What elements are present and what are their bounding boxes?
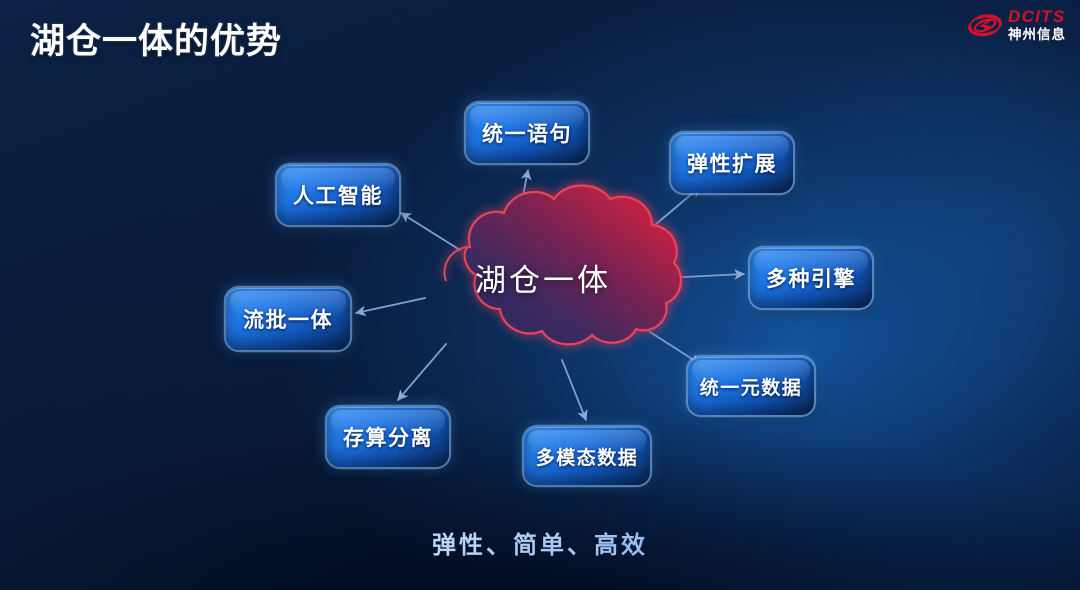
node-label: 统一元数据 (700, 373, 803, 400)
node-storage-compute[interactable]: 存算分离 (327, 407, 449, 467)
node-unified-syntax[interactable]: 统一语句 (466, 103, 588, 163)
node-multimodal-data[interactable]: 多模态数据 (524, 427, 650, 485)
node-label: 弹性扩展 (687, 148, 777, 178)
logo-english-text: DCITS (1008, 8, 1066, 25)
slide-canvas: 湖仓一体的优势 DCITS 神州信息 (0, 0, 1080, 590)
node-label: 存算分离 (343, 422, 433, 452)
logo-chinese-text: 神州信息 (1008, 28, 1066, 42)
brand-logo: DCITS 神州信息 (967, 8, 1066, 42)
mindmap-diagram: 湖仓一体 统一语句弹性扩展人工智能多种引擎流批一体统一元数据存算分离多模态数据 (0, 0, 1080, 590)
cloud-center-label: 湖仓一体 (475, 255, 611, 300)
node-label: 人工智能 (293, 180, 383, 210)
node-stream-batch[interactable]: 流批一体 (226, 288, 350, 350)
node-unified-metadata[interactable]: 统一元数据 (688, 357, 814, 415)
slide-footer-tagline: 弹性、简单、高效 (0, 525, 1080, 560)
node-label: 多种引擎 (766, 263, 856, 293)
node-label: 多模态数据 (536, 443, 639, 470)
node-multi-engine[interactable]: 多种引擎 (750, 248, 872, 308)
node-elastic-scaling[interactable]: 弹性扩展 (671, 133, 793, 193)
swirl-icon (967, 8, 1003, 42)
node-artificial-intel[interactable]: 人工智能 (277, 165, 399, 225)
page-title: 湖仓一体的优势 (30, 13, 282, 64)
node-label: 流批一体 (243, 304, 333, 334)
node-label: 统一语句 (482, 118, 572, 148)
